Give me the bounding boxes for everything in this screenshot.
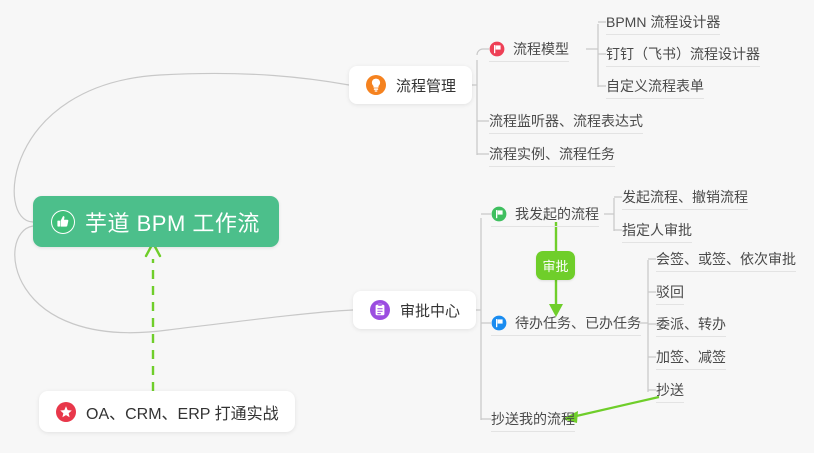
star-icon <box>55 401 77 423</box>
node-process-listener-expression[interactable]: 流程监听器、流程表达式 <box>489 108 643 134</box>
node-label-custom-process-form: 自定义流程表单 <box>606 78 704 94</box>
flag-icon <box>491 315 507 331</box>
arrow-cc-to-ccme <box>572 397 659 417</box>
node-label-start-cancel-process: 发起流程、撤销流程 <box>622 189 748 205</box>
node-process-instance-task[interactable]: 流程实例、流程任务 <box>489 141 615 167</box>
footer-card-oa-crm-erp[interactable]: OA、CRM、ERP 打通实战 <box>39 391 295 432</box>
node-label-dingtalk-feishu-designer: 钉钉（飞书）流程设计器 <box>606 46 760 62</box>
node-assignee-approval[interactable]: 指定人审批 <box>622 217 692 243</box>
node-cc-to-me-process[interactable]: 抄送我的流程 <box>491 406 575 432</box>
lightbulb-icon <box>365 74 387 96</box>
root-label: 芋道 BPM 工作流 <box>85 206 260 238</box>
node-label-todo-done-tasks: 待办任务、已办任务 <box>515 315 641 331</box>
annotation-approve-label: 审批 <box>542 256 568 275</box>
node-delegate-transfer[interactable]: 委派、转办 <box>656 311 726 337</box>
node-start-cancel-process[interactable]: 发起流程、撤销流程 <box>622 184 748 210</box>
root-node[interactable]: 芋道 BPM 工作流 <box>33 196 279 247</box>
node-label-cc-to-me-process: 抄送我的流程 <box>491 411 575 427</box>
node-reject[interactable]: 驳回 <box>656 279 684 305</box>
node-label-process-listener-expression: 流程监听器、流程表达式 <box>489 113 643 129</box>
node-process-model[interactable]: 流程模型 <box>489 36 569 62</box>
branch-label-approval-center: 审批中心 <box>400 300 460 321</box>
node-label-assignee-approval: 指定人审批 <box>622 222 692 238</box>
node-label-bpmn-designer: BPMN 流程设计器 <box>606 14 720 30</box>
node-dingtalk-feishu-designer[interactable]: 钉钉（飞书）流程设计器 <box>606 41 760 67</box>
flag-icon <box>491 206 507 222</box>
wire-pm-to-model <box>477 49 489 55</box>
node-my-initiated-process[interactable]: 我发起的流程 <box>491 201 599 227</box>
node-label-process-model: 流程模型 <box>513 41 569 57</box>
node-bpmn-designer[interactable]: BPMN 流程设计器 <box>606 9 720 35</box>
flag-icon <box>489 41 505 57</box>
node-custom-process-form[interactable]: 自定义流程表单 <box>606 73 704 99</box>
node-label-process-instance-task: 流程实例、流程任务 <box>489 146 615 162</box>
mindmap-canvas: 芋道 BPM 工作流 流程管理 流程模型 BPMN 流程设计器 钉钉（飞书）流 <box>0 0 814 453</box>
clipboard-icon <box>369 299 391 321</box>
node-cc[interactable]: 抄送 <box>656 377 684 403</box>
node-todo-done-tasks[interactable]: 待办任务、已办任务 <box>491 310 641 336</box>
node-label-reject: 驳回 <box>656 284 684 300</box>
node-countersign-orsign-sequential[interactable]: 会签、或签、依次审批 <box>656 246 796 272</box>
node-label-add-remove-sign: 加签、减签 <box>656 349 726 365</box>
thumbs-up-icon <box>51 210 75 234</box>
footer-card-label: OA、CRM、ERP 打通实战 <box>86 400 279 424</box>
node-label-delegate-transfer: 委派、转办 <box>656 316 726 332</box>
branch-label-process-management: 流程管理 <box>396 75 456 96</box>
node-label-countersign-orsign-sequential: 会签、或签、依次审批 <box>656 251 796 267</box>
node-label-cc: 抄送 <box>656 382 684 398</box>
branch-node-process-management[interactable]: 流程管理 <box>349 66 472 104</box>
annotation-approve-tag: 审批 <box>536 251 575 280</box>
branch-node-approval-center[interactable]: 审批中心 <box>353 291 476 329</box>
node-label-my-initiated-process: 我发起的流程 <box>515 206 599 222</box>
node-add-remove-sign[interactable]: 加签、减签 <box>656 344 726 370</box>
